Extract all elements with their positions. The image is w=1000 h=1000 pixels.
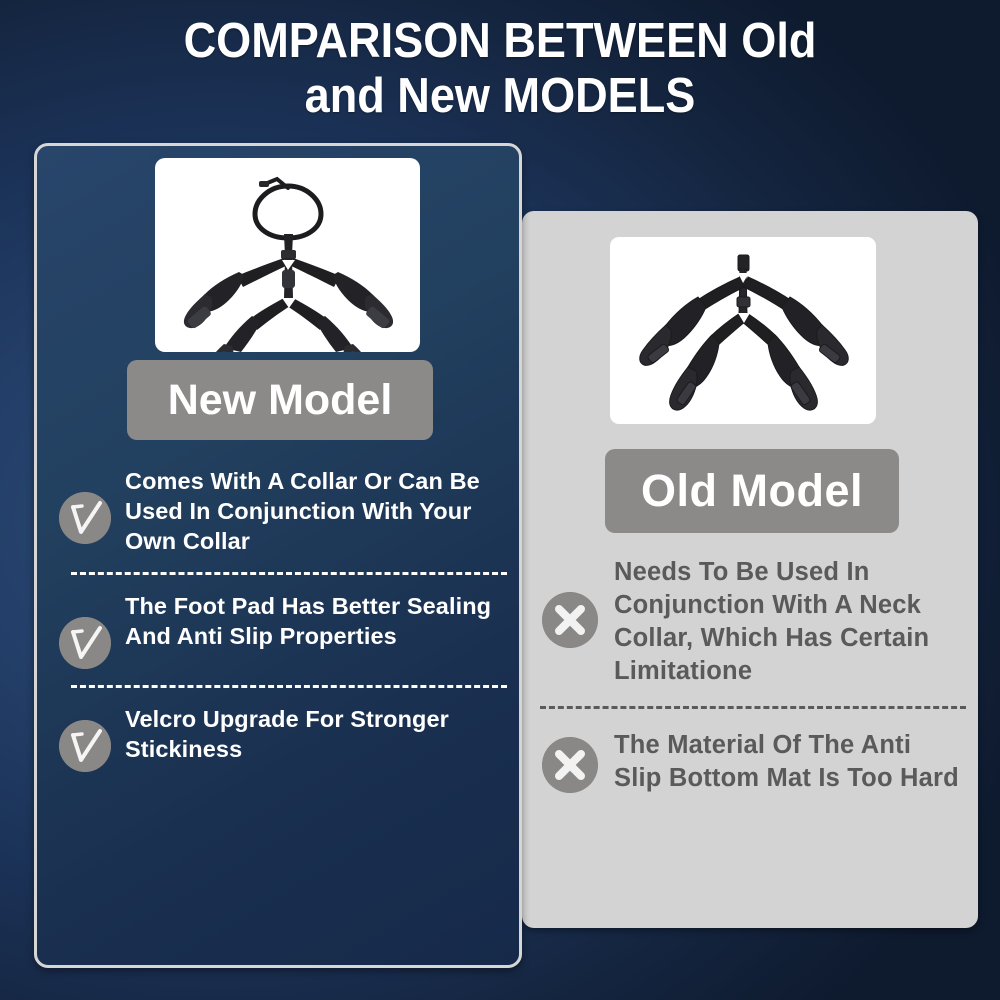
page-title-line-2: and New MODELS	[40, 69, 960, 124]
new-feature-text: Comes With A Collar Or Can Be Used In Co…	[125, 466, 509, 556]
page-title-line-1: COMPARISON BETWEEN Old	[184, 14, 817, 68]
check-icon	[59, 492, 111, 544]
cross-icon	[542, 592, 598, 648]
cross-icon	[542, 737, 598, 793]
list-item: Velcro Upgrade For Stronger Stickiness	[37, 704, 519, 772]
check-icon	[59, 617, 111, 669]
list-item: Needs To Be Used In Conjunction With A N…	[522, 556, 978, 688]
list-item: Comes With A Collar Or Can Be Used In Co…	[37, 466, 519, 556]
old-model-card: Old Model Needs To Be Used In Conjunctio…	[522, 211, 978, 928]
list-item: The Material Of The Anti Slip Bottom Mat…	[522, 729, 978, 795]
new-model-card: New Model Comes With A Collar Or Can Be …	[34, 143, 522, 968]
check-icon	[59, 720, 111, 772]
new-model-photo	[155, 158, 420, 352]
comparison-infographic: COMPARISON BETWEEN Old and New MODELS	[0, 0, 1000, 1000]
old-model-feature-list: Needs To Be Used In Conjunction With A N…	[522, 556, 978, 795]
old-model-photo	[610, 237, 876, 424]
divider	[71, 685, 507, 688]
old-feature-text: The Material Of The Anti Slip Bottom Mat…	[614, 729, 964, 795]
new-model-feature-list: Comes With A Collar Or Can Be Used In Co…	[37, 466, 519, 772]
list-item: The Foot Pad Has Better Sealing And Anti…	[37, 591, 519, 669]
page-title: COMPARISON BETWEEN Old and New MODELS	[40, 14, 960, 124]
new-feature-text: The Foot Pad Has Better Sealing And Anti…	[125, 591, 509, 651]
divider	[540, 706, 966, 709]
new-feature-text: Velcro Upgrade For Stronger Stickiness	[125, 704, 509, 764]
old-model-harness-illustration	[610, 237, 876, 424]
old-model-badge: Old Model	[605, 449, 899, 533]
old-feature-text: Needs To Be Used In Conjunction With A N…	[614, 556, 964, 688]
divider	[71, 572, 507, 575]
new-model-harness-illustration	[155, 158, 420, 352]
new-model-badge: New Model	[127, 360, 433, 440]
